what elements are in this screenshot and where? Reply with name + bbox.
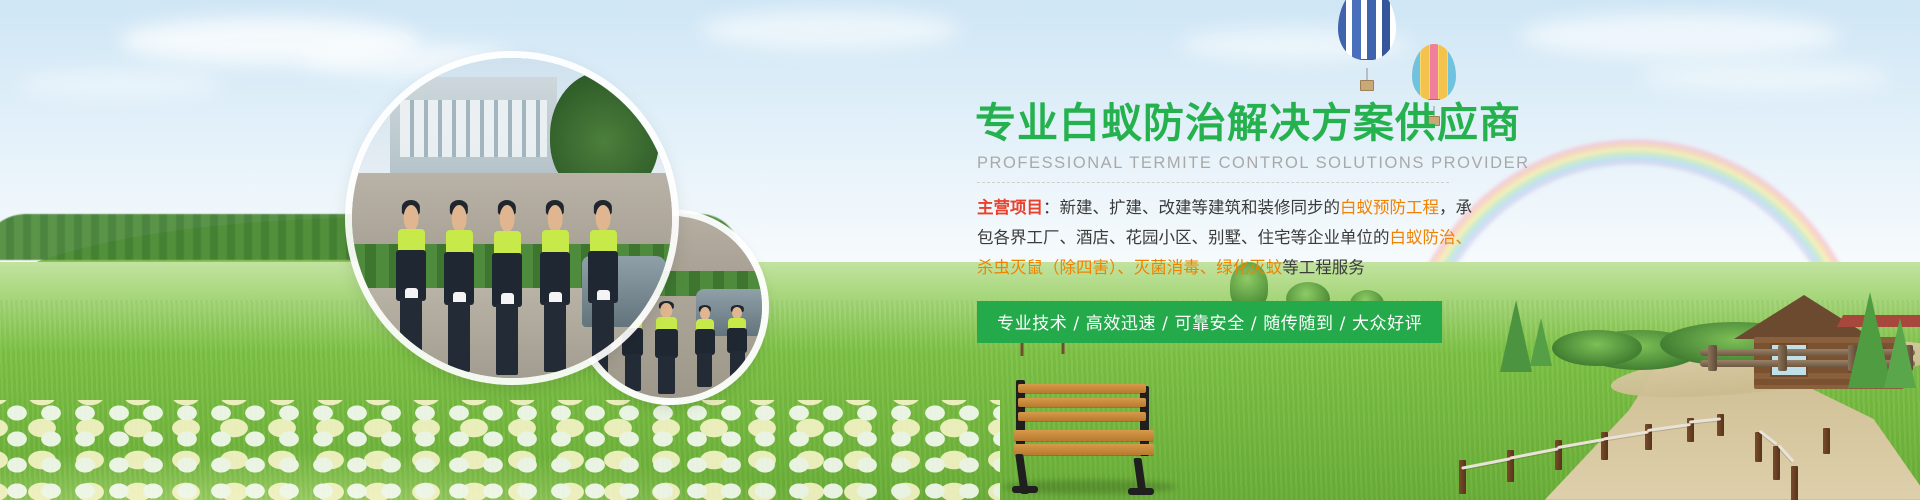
shrub: [1552, 330, 1642, 366]
feature-highlight-text: 专业技术 / 高效迅速 / 可靠安全 / 随传随到 / 大众好评: [997, 314, 1422, 334]
description-line1-plain-a: 新建、扩建、改建等建筑和装修同步的: [1060, 198, 1341, 217]
description-line1-highlight: 白蚁预防工程: [1340, 198, 1439, 217]
conifer-tree: [1500, 300, 1532, 372]
dashed-divider: [977, 182, 1449, 183]
headline-english: PROFESSIONAL TERMITE CONTROL SOLUTIONS P…: [977, 154, 1495, 173]
conifer-tree: [1530, 318, 1552, 366]
team-photo-primary: [352, 58, 672, 378]
rope-fence: [1455, 388, 1915, 498]
promo-banner: 专业白蚁防治解决方案供应商 PROFESSIONAL TERMITE CONTR…: [0, 0, 1920, 500]
description-line2-plain-a: 各界工厂、酒店、花园小区、别墅、住宅等企业单位的: [994, 228, 1390, 247]
hot-air-balloon-colored-icon: [1412, 44, 1456, 100]
cloud-shape: [700, 10, 960, 50]
description-label: 主营项目: [977, 198, 1043, 217]
feature-highlight-bar[interactable]: 专业技术 / 高效迅速 / 可靠安全 / 随传随到 / 大众好评: [977, 301, 1442, 343]
description-line3-plain: 等工程服务: [1282, 258, 1365, 277]
headline-chinese: 专业白蚁防治解决方案供应商: [975, 100, 1495, 147]
service-description: 主营项目：新建、扩建、改建等建筑和装修同步的白蚁预防工程，承包各界工厂、酒店、花…: [977, 193, 1477, 283]
cloud-shape: [1640, 62, 1890, 92]
photo-collage: [352, 58, 764, 398]
park-bench: [1012, 378, 1164, 496]
description-colon: ：: [1043, 198, 1060, 217]
cloud-shape: [20, 70, 220, 98]
banner-text-block: 专业白蚁防治解决方案供应商 PROFESSIONAL TERMITE CONTR…: [975, 100, 1495, 343]
hot-air-balloon-blue-icon: [1338, 0, 1396, 60]
cloud-shape: [1520, 14, 1840, 58]
flower-patch: [0, 400, 1000, 500]
pine-tree: [1884, 318, 1916, 388]
description-line3-highlight: 灭鼠（除四害）、灭菌消毒、绿化灭蚊: [1010, 258, 1282, 277]
